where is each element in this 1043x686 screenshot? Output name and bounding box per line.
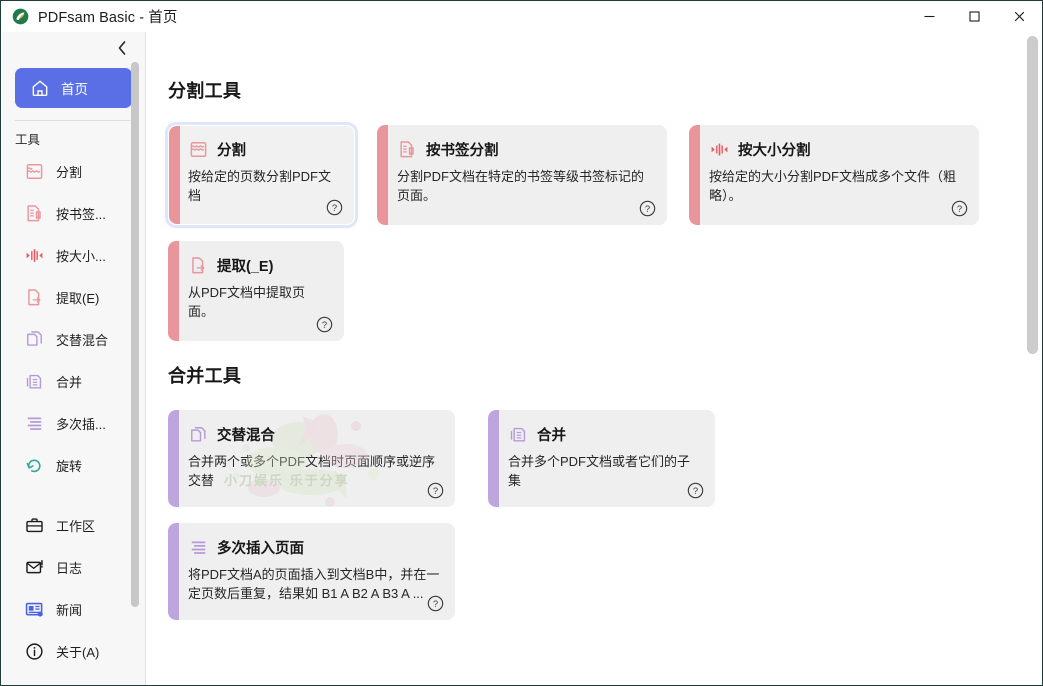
card-merge[interactable]: 合并 合并多个PDF文档或者它们的子集 ? <box>488 410 715 507</box>
split-section-title: 分割工具 <box>168 77 998 103</box>
card-merge-title: 合并 <box>537 424 566 445</box>
sidebar-item-split-by-size[interactable]: 按大小... <box>2 234 145 276</box>
sidebar-item-merge[interactable]: 合并 <box>2 360 145 402</box>
card-split-by-bookmark-desc: 分割PDF文档在特定的书签等级书签标记的页面。 <box>397 167 652 205</box>
card-split-by-size[interactable]: 按大小分割 按给定的大小分割PDF文档成多个文件（粗略）。 ? <box>689 125 979 225</box>
close-icon <box>1013 10 1026 23</box>
merge-section-title: 合并工具 <box>168 362 998 388</box>
split-by-bookmark-icon <box>24 203 45 224</box>
svg-text:?: ? <box>957 204 962 215</box>
workspace-icon <box>24 515 45 536</box>
card-multiple-insert[interactable]: 多次插入页面 将PDF文档A的页面插入到文档B中，并在一定页数后重复，结果如 B… <box>168 523 455 620</box>
sidebar-item-split[interactable]: 分割 <box>2 150 145 192</box>
svg-text:?: ? <box>693 486 698 497</box>
app-window: PDFsam Basic - 首页 <box>0 0 1043 686</box>
sidebar-tools-list: 分割 按书签... <box>2 150 145 672</box>
svg-text:?: ? <box>332 203 337 214</box>
split-icon <box>188 140 208 160</box>
maximize-button[interactable] <box>952 1 997 32</box>
card-alternate-mix-desc: 合并两个或多个PDF文档时页面顺序或逆序交替 <box>188 452 440 490</box>
news-icon <box>24 599 45 620</box>
card-split-by-size-title: 按大小分割 <box>738 139 811 160</box>
log-icon <box>24 557 45 578</box>
split-by-size-icon <box>24 245 45 266</box>
sidebar-item-log-label: 日志 <box>56 558 82 577</box>
sidebar-item-multiple-insert-label: 多次插... <box>56 414 106 433</box>
merge-tools-section: 合并工具 交替混合 合并两个或多个PDF文档时页面顺序或逆序交替 <box>168 362 998 620</box>
alternate-mix-icon <box>188 425 208 445</box>
card-split-by-size-desc: 按给定的大小分割PDF文档成多个文件（粗略）。 <box>709 167 964 205</box>
main-scrollbar-thumb[interactable] <box>1027 36 1038 354</box>
help-icon[interactable]: ? <box>427 595 444 612</box>
card-split-by-bookmark[interactable]: 按书签分割 分割PDF文档在特定的书签等级书签标记的页面。 ? <box>377 125 667 225</box>
title-bar: PDFsam Basic - 首页 <box>1 1 1042 32</box>
svg-text:?: ? <box>645 204 650 215</box>
card-extract-desc: 从PDF文档中提取页面。 <box>188 283 329 321</box>
card-merge-desc: 合并多个PDF文档或者它们的子集 <box>508 452 700 490</box>
chevron-left-icon[interactable] <box>117 40 128 56</box>
card-split-desc: 按给定的页数分割PDF文档 <box>188 167 340 205</box>
sidebar-item-extract[interactable]: 提取(E) <box>2 276 145 318</box>
split-by-bookmark-icon <box>397 140 417 160</box>
sidebar-item-home-label: 首页 <box>61 78 88 98</box>
card-split-by-bookmark-head: 按书签分割 <box>397 139 652 160</box>
sidebar-item-multiple-insert[interactable]: 多次插... <box>2 402 145 444</box>
card-split-by-bookmark-title: 按书签分割 <box>426 139 499 160</box>
sidebar-item-alternate-mix-label: 交替混合 <box>56 330 108 349</box>
sidebar-divider <box>15 120 132 121</box>
sidebar-item-split-label: 分割 <box>56 162 82 181</box>
sidebar-item-split-by-bookmark-label: 按书签... <box>56 204 106 223</box>
help-icon[interactable]: ? <box>951 200 968 217</box>
sidebar-item-split-by-bookmark[interactable]: 按书签... <box>2 192 145 234</box>
card-multiple-insert-desc: 将PDF文档A的页面插入到文档B中，并在一定页数后重复，结果如 B1 A B2 … <box>188 565 440 603</box>
svg-text:?: ? <box>433 599 438 610</box>
sidebar-item-extract-label: 提取(E) <box>56 288 99 307</box>
main-scrollbar[interactable] <box>1024 32 1040 686</box>
split-cards-row-1: 分割 按给定的页数分割PDF文档 ? <box>168 125 998 225</box>
main-content: 分割工具 分割 按给定的页数分割PDF文档 <box>146 32 1020 686</box>
card-alternate-mix[interactable]: 交替混合 合并两个或多个PDF文档时页面顺序或逆序交替 ? <box>168 410 455 507</box>
card-multiple-insert-title: 多次插入页面 <box>217 537 304 558</box>
merge-icon <box>508 425 528 445</box>
sidebar-item-about-label: 关于(A) <box>56 642 99 661</box>
close-button[interactable] <box>997 1 1042 32</box>
alternate-mix-icon <box>24 329 45 350</box>
sidebar-section-label: 工具 <box>15 129 145 148</box>
extract-icon <box>188 256 208 276</box>
sidebar-item-home[interactable]: 首页 <box>15 68 132 108</box>
pdfsam-logo-icon <box>12 8 29 25</box>
card-merge-head: 合并 <box>508 424 700 445</box>
card-split-title: 分割 <box>217 139 246 160</box>
card-extract-head: 提取(_E) <box>188 255 329 276</box>
sidebar-item-log[interactable]: 日志 <box>2 546 145 588</box>
card-split-by-size-head: 按大小分割 <box>709 139 964 160</box>
sidebar-item-workspace-label: 工作区 <box>56 516 95 535</box>
sidebar-item-news[interactable]: 新闻 <box>2 588 145 630</box>
sidebar-item-split-by-size-label: 按大小... <box>56 246 106 265</box>
minimize-icon <box>923 10 936 23</box>
sidebar-item-news-label: 新闻 <box>56 600 82 619</box>
help-icon[interactable]: ? <box>427 482 444 499</box>
sidebar-item-workspace[interactable]: 工作区 <box>2 504 145 546</box>
split-by-size-icon <box>709 140 729 160</box>
home-icon <box>30 78 50 98</box>
help-icon[interactable]: ? <box>687 482 704 499</box>
svg-text:?: ? <box>322 320 327 331</box>
card-alternate-mix-title: 交替混合 <box>217 424 275 445</box>
split-tools-section: 分割工具 分割 按给定的页数分割PDF文档 <box>168 77 998 341</box>
sidebar-collapse-row <box>2 32 145 64</box>
sidebar-item-alternate-mix[interactable]: 交替混合 <box>2 318 145 360</box>
sidebar-item-rotate-label: 旋转 <box>56 456 82 475</box>
maximize-icon <box>968 10 981 23</box>
split-icon <box>24 161 45 182</box>
about-info-icon <box>24 641 45 662</box>
sidebar-item-merge-label: 合并 <box>56 372 82 391</box>
merge-cards-row-1: 交替混合 合并两个或多个PDF文档时页面顺序或逆序交替 ? <box>168 410 998 507</box>
help-icon[interactable]: ? <box>326 199 343 216</box>
sidebar-gap <box>2 486 145 504</box>
card-alternate-mix-head: 交替混合 <box>188 424 440 445</box>
help-icon[interactable]: ? <box>639 200 656 217</box>
merge-cards-row-2: 多次插入页面 将PDF文档A的页面插入到文档B中，并在一定页数后重复，结果如 B… <box>168 523 998 620</box>
card-split[interactable]: 分割 按给定的页数分割PDF文档 ? <box>168 125 355 225</box>
extract-icon <box>24 287 45 308</box>
sidebar-item-rotate[interactable]: 旋转 <box>2 444 145 486</box>
sidebar-scrollbar[interactable] <box>131 32 139 686</box>
sidebar-scrollbar-thumb[interactable] <box>131 62 139 607</box>
card-extract-title: 提取(_E) <box>217 255 273 276</box>
multiple-insert-icon <box>188 538 208 558</box>
rotate-icon <box>24 455 45 476</box>
minimize-button[interactable] <box>907 1 952 32</box>
sidebar: 首页 工具 分割 <box>2 32 146 686</box>
card-extract[interactable]: 提取(_E) 从PDF文档中提取页面。 ? <box>168 241 344 341</box>
sidebar-item-about[interactable]: 关于(A) <box>2 630 145 672</box>
card-split-head: 分割 <box>188 139 340 160</box>
multiple-insert-icon <box>24 413 45 434</box>
merge-icon <box>24 371 45 392</box>
svg-text:?: ? <box>433 486 438 497</box>
help-icon[interactable]: ? <box>316 316 333 333</box>
card-multiple-insert-head: 多次插入页面 <box>188 537 440 558</box>
window-title: PDFsam Basic - 首页 <box>38 6 177 27</box>
split-cards-row-2: 提取(_E) 从PDF文档中提取页面。 ? <box>168 241 998 341</box>
